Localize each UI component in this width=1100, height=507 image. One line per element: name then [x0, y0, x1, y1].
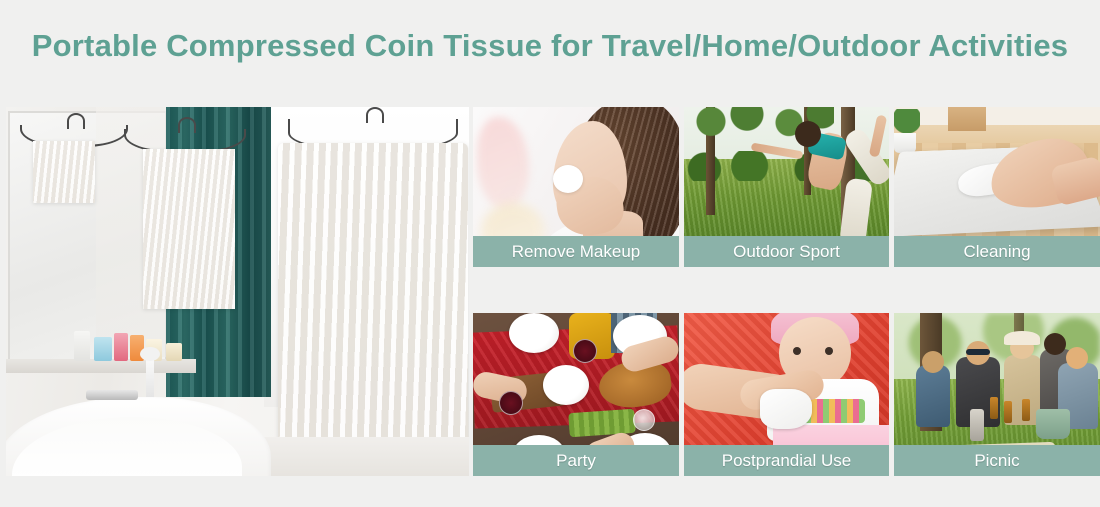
tile-cleaning: Cleaning: [894, 107, 1100, 267]
tile-caption: Picnic: [894, 445, 1100, 476]
tile-outdoor-sport: Outdoor Sport: [684, 107, 889, 267]
toiletries-group: [74, 325, 184, 361]
tissue-wipe: [760, 389, 812, 429]
product-feature-banner: Portable Compressed Coin Tissue for Trav…: [0, 0, 1100, 507]
cotton-pad: [553, 165, 583, 193]
tissue-cloth-large: [278, 143, 468, 448]
tile-party: Party: [473, 313, 679, 476]
hero-image-bathroom: [6, 107, 469, 476]
tile-caption: Party: [473, 445, 679, 476]
tissue-cloth-small: [33, 141, 95, 203]
tile-caption: Cleaning: [894, 236, 1100, 267]
tile-postprandial-use: Postprandial Use: [684, 313, 889, 476]
faucet: [86, 390, 138, 400]
tile-remove-makeup: Remove Makeup: [473, 107, 679, 267]
tile-caption: Remove Makeup: [473, 236, 679, 267]
page-title: Portable Compressed Coin Tissue for Trav…: [0, 28, 1100, 64]
tissue-cloth-medium: [143, 149, 235, 309]
bathroom-counter: [6, 359, 196, 373]
tile-picnic: Picnic: [894, 313, 1100, 476]
tile-caption: Outdoor Sport: [684, 236, 889, 267]
tile-caption: Postprandial Use: [684, 445, 889, 476]
